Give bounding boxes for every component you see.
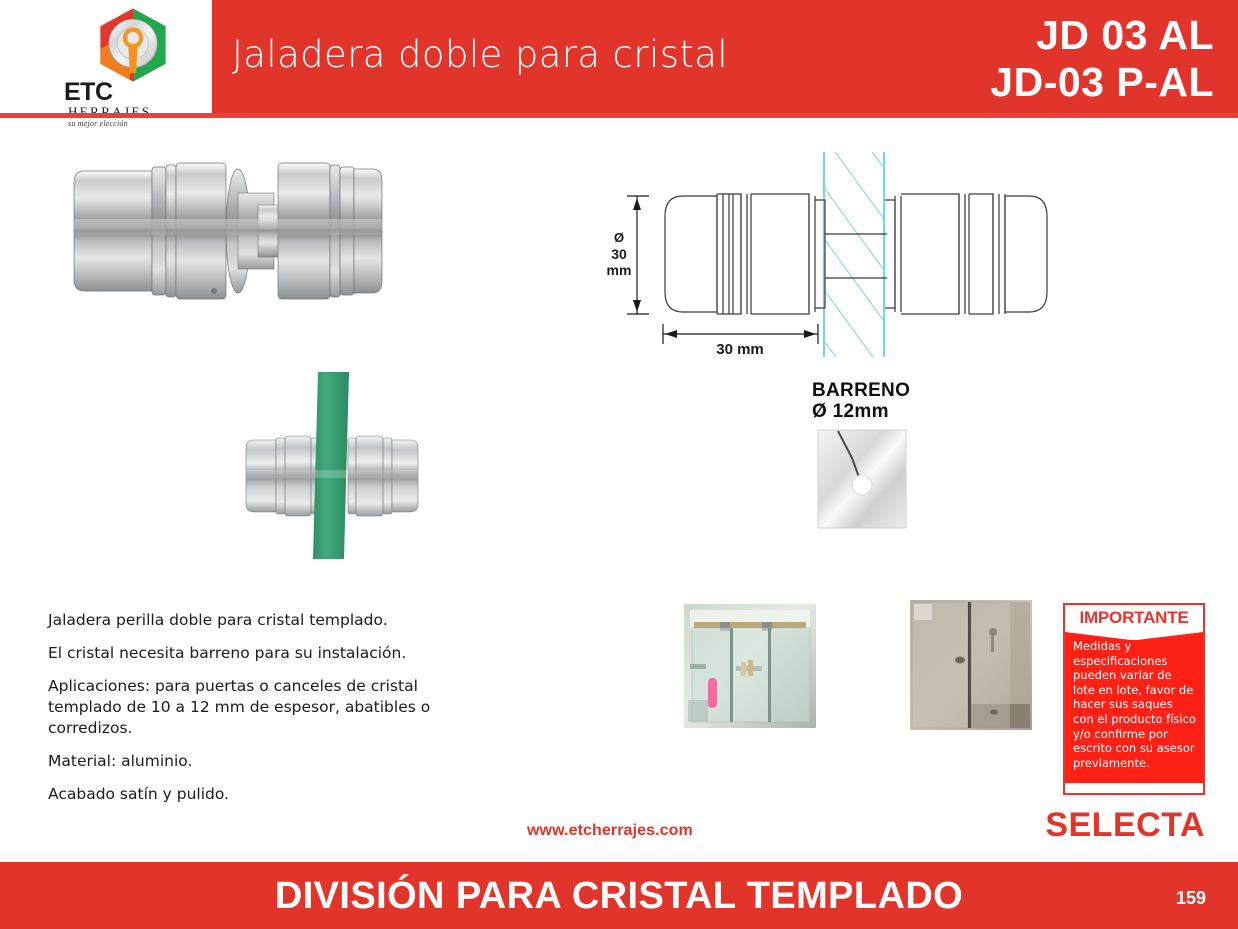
barreno-section: BARRENO Ø 12mm — [812, 380, 992, 535]
etc-hexagon-logo-icon — [94, 6, 172, 84]
product-description: Jaladera perilla doble para cristal temp… — [48, 610, 468, 817]
importante-box: IMPORTANTE Medidas y especificaciones pu… — [1063, 603, 1205, 795]
product-code-primary: JD 03 AL — [990, 12, 1214, 59]
dimension-diameter — [627, 196, 649, 314]
installation-photo-2 — [910, 600, 1032, 730]
catalog-page: ETC HERRAJES su mejor elección Jaladera … — [0, 0, 1238, 929]
drawing-right-knob — [885, 194, 1047, 314]
logo-tagline: su mejor elección — [68, 119, 152, 129]
product-photo-main — [62, 133, 392, 329]
selecta-brand: SELECTA — [1045, 806, 1205, 845]
barreno-title: BARRENO — [812, 380, 992, 401]
description-line-2: El cristal necesita barreno para su inst… — [48, 643, 468, 664]
footer-section-title: DIVISIÓN PARA CRISTAL TEMPLADO — [0, 875, 1238, 918]
importante-header: IMPORTANTE — [1065, 605, 1203, 631]
glass-panel-hatched — [815, 152, 905, 367]
product-code-secondary: JD-03 P-AL — [990, 59, 1214, 106]
page-title: Jaladera doble para cristal — [232, 33, 728, 76]
barreno-spec: Ø 12mm — [812, 401, 992, 423]
etc-herrajes-logo: ETC HERRAJES su mejor elección — [64, 6, 204, 110]
page-number: 159 — [1176, 888, 1206, 909]
description-line-4: Material: aluminio. — [48, 751, 468, 772]
green-glass-panel — [313, 372, 349, 559]
importante-body: Medidas y especificaciones pueden variar… — [1065, 631, 1203, 783]
importante-text: Medidas y especificaciones pueden variar… — [1073, 639, 1197, 770]
product-photo-with-glass — [236, 362, 436, 567]
description-line-5: Acabado satín y pulido. — [48, 784, 468, 805]
dimension-diameter-unit: mm — [607, 262, 632, 278]
dimension-length-label: 30 mm — [716, 341, 764, 358]
website-link[interactable]: www.etcherrajes.com — [527, 822, 693, 840]
header-divider — [0, 113, 1238, 118]
logo-brand-text: ETC — [64, 80, 113, 105]
logo-wordmark: ETC HERRAJES su mejor elección — [64, 80, 204, 110]
drawing-left-knob — [665, 194, 825, 314]
installation-photo-1 — [684, 604, 816, 728]
page-header: ETC HERRAJES su mejor elección Jaladera … — [0, 0, 1238, 113]
barreno-glass-illustration — [816, 428, 908, 530]
importante-title: IMPORTANTE — [1079, 608, 1188, 627]
dimension-diameter-symbol: Ø — [614, 230, 624, 245]
product-codes: JD 03 AL JD-03 P-AL — [990, 12, 1214, 106]
barreno-hole — [852, 475, 872, 495]
description-line-3: Aplicaciones: para puertas o canceles de… — [48, 676, 468, 739]
technical-drawing: Ø 30 mm 30 mm — [575, 152, 1095, 367]
description-line-1: Jaladera perilla doble para cristal temp… — [48, 610, 468, 631]
dimension-diameter-value: 30 — [611, 246, 627, 262]
